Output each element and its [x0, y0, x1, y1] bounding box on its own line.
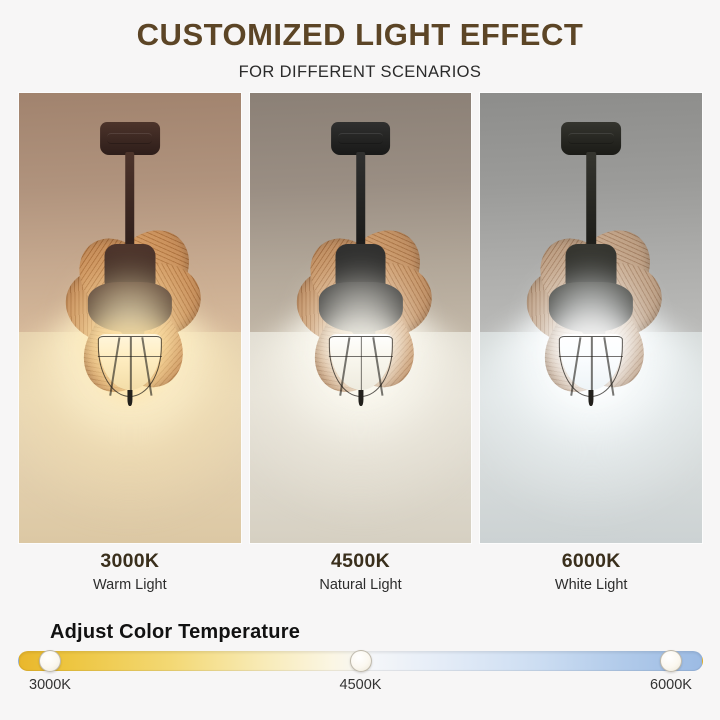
caption-white-light: 6000K White Light: [479, 550, 703, 593]
slider-thumb-3000k[interactable]: [39, 650, 61, 672]
caption-natural-light: 4500K Natural Light: [249, 550, 473, 593]
caption-warm-light: 3000K Warm Light: [18, 550, 242, 593]
fan-finial: [589, 390, 594, 406]
page-title: CUSTOMIZED LIGHT EFFECT: [0, 18, 720, 52]
kelvin-value: 6000K: [479, 550, 703, 573]
ceiling-fan-icon: [19, 93, 241, 543]
panel-warm-light: [18, 92, 242, 544]
slider-thumb-6000k[interactable]: [660, 650, 682, 672]
kelvin-name: Natural Light: [249, 577, 473, 593]
color-temperature-slider[interactable]: [18, 651, 703, 671]
fan-downrod: [356, 152, 366, 256]
light-effect-panels: [18, 92, 703, 544]
fan-downrod: [586, 152, 596, 256]
slider-label-max: 6000K: [650, 677, 692, 693]
fan-canopy: [100, 122, 160, 154]
fan-canopy: [331, 122, 391, 154]
kelvin-name: Warm Light: [18, 577, 242, 593]
fan-canopy: [561, 122, 621, 154]
slider-label-min: 3000K: [29, 677, 71, 693]
promo-page: CUSTOMIZED LIGHT EFFECT FOR DIFFERENT SC…: [0, 0, 720, 720]
fan-finial: [127, 390, 132, 406]
kelvin-name: White Light: [479, 577, 703, 593]
fan-finial: [358, 390, 363, 406]
panel-natural-light: [249, 92, 473, 544]
slider-label-mid: 4500K: [340, 677, 382, 693]
page-subtitle: FOR DIFFERENT SCENARIOS: [0, 63, 720, 82]
slider-heading: Adjust Color Temperature: [50, 621, 703, 644]
kelvin-value: 3000K: [18, 550, 242, 573]
panel-white-light: [479, 92, 703, 544]
ceiling-fan-icon: [250, 93, 472, 543]
slider-thumb-4500k[interactable]: [350, 650, 372, 672]
fan-downrod: [125, 152, 135, 256]
slider-scale-labels: 3000K 4500K 6000K: [18, 677, 703, 699]
page-header: CUSTOMIZED LIGHT EFFECT FOR DIFFERENT SC…: [0, 0, 720, 82]
kelvin-value: 4500K: [249, 550, 473, 573]
ceiling-fan-icon: [480, 93, 702, 543]
panel-captions: 3000K Warm Light 4500K Natural Light 600…: [18, 550, 703, 593]
color-temperature-section: Adjust Color Temperature 3000K 4500K 600…: [18, 621, 703, 699]
